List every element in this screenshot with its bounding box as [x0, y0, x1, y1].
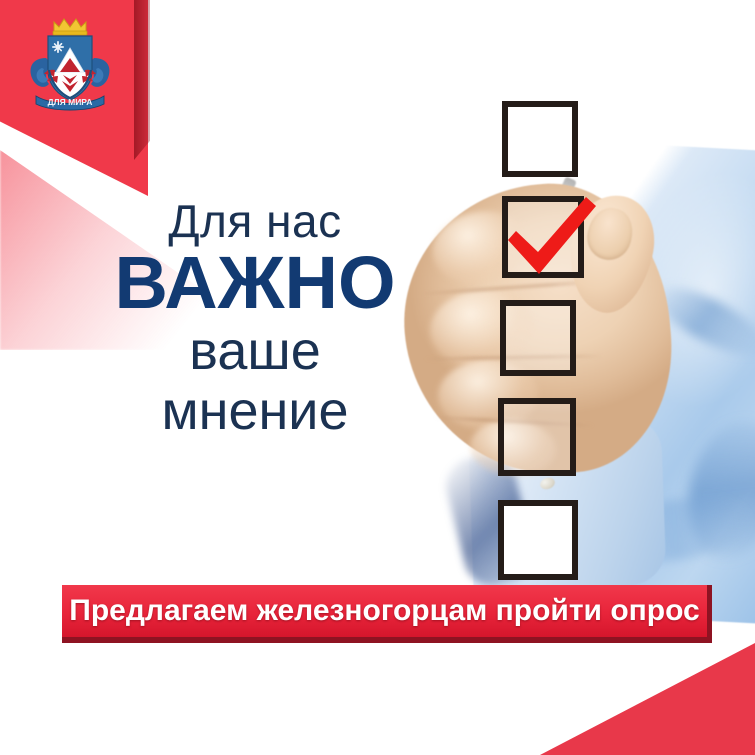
headline-line-2-emphasis: ВАЖНО [90, 246, 420, 320]
crown-icon [53, 19, 87, 35]
corner-decoration-shadow [134, 0, 150, 160]
checkbox-5[interactable] [498, 500, 578, 580]
checkbox-4[interactable] [498, 398, 576, 476]
coat-of-arms-emblem: ДЛЯ МИРА [22, 10, 118, 112]
banner-text: Предлагаем железногорцам пройти опрос [69, 594, 699, 628]
checkbox-3[interactable] [500, 300, 576, 376]
poster-root: ДЛЯ МИРА Для нас ВАЖНО ваше мнение Предл… [0, 0, 755, 755]
motto-ribbon: ДЛЯ МИРА [36, 96, 104, 110]
headline-line-4: мнение [90, 384, 420, 438]
checkbox-2[interactable] [502, 196, 584, 278]
headline-line-3: ваше [90, 324, 420, 378]
motto-text: ДЛЯ МИРА [48, 97, 93, 107]
headline-block: Для нас ВАЖНО ваше мнение [90, 198, 420, 438]
call-to-action-banner: Предлагаем железногорцам пройти опрос [62, 585, 712, 643]
headline-line-1: Для нас [90, 198, 420, 244]
checkbox-1[interactable] [502, 101, 578, 177]
